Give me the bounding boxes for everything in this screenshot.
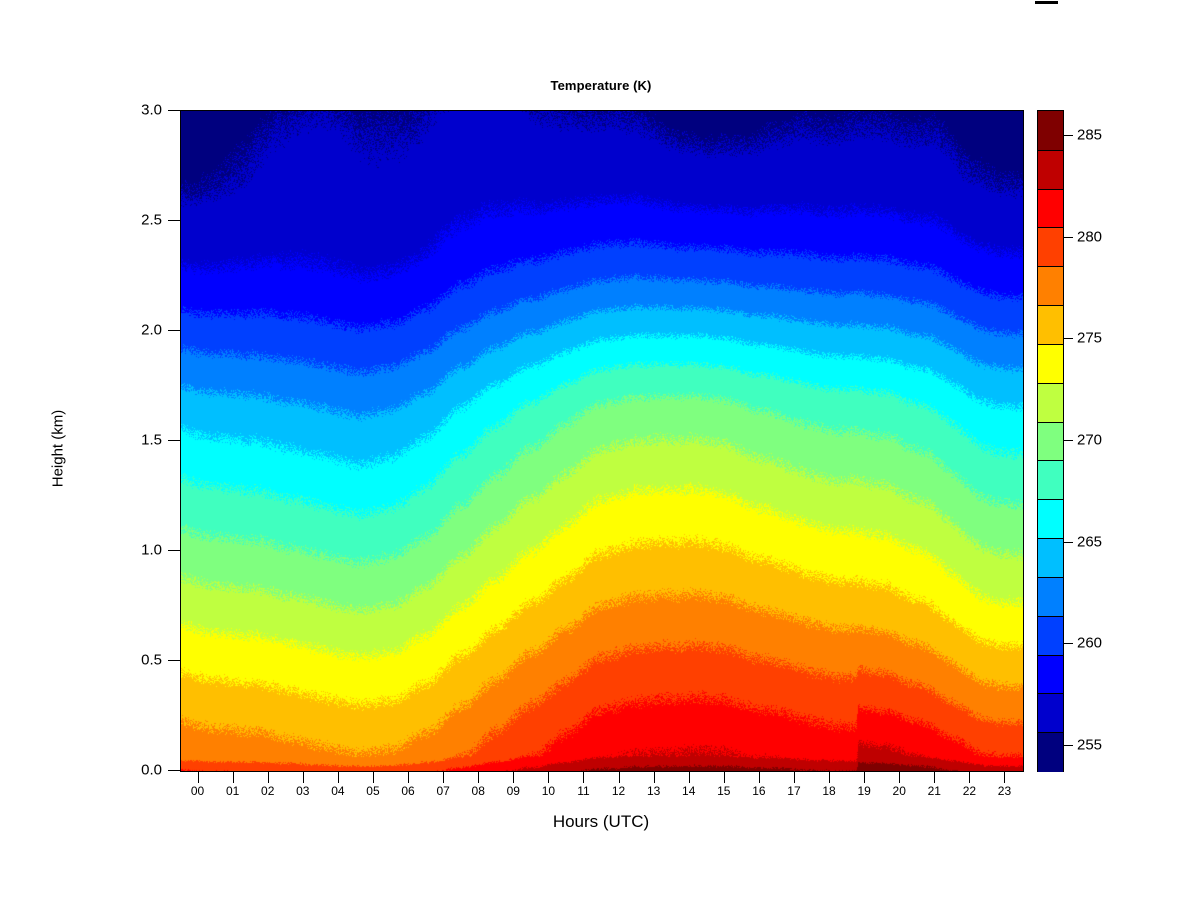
x-tick-mark <box>408 771 409 783</box>
x-axis-tick-marks <box>180 771 1022 783</box>
x-tick-label: 20 <box>893 784 906 798</box>
x-tick-label: 05 <box>366 784 379 798</box>
x-tick-label: 15 <box>717 784 730 798</box>
y-tick-label: 1.5 <box>141 432 162 449</box>
y-axis-tick-marks <box>168 110 180 770</box>
x-tick-label: 09 <box>507 784 520 798</box>
y-axis-tick-labels: 0.00.51.01.52.02.53.0 <box>100 110 162 770</box>
y-axis-title: Height (km) <box>50 369 67 529</box>
x-tick-label: 21 <box>928 784 941 798</box>
page-title: Temperature (K) <box>180 78 1022 93</box>
y-tick-mark <box>168 770 180 771</box>
y-tick-mark <box>168 110 180 111</box>
corner-rule-artifact <box>1035 1 1058 4</box>
x-tick-label: 11 <box>577 784 589 798</box>
x-tick-label: 06 <box>401 784 414 798</box>
colorbar-tick-marks <box>1064 110 1073 770</box>
x-tick-mark <box>373 771 374 783</box>
colorbar-tick-labels: 255260265270275280285 <box>1077 110 1137 770</box>
x-tick-label: 04 <box>331 784 344 798</box>
x-tick-mark <box>268 771 269 783</box>
colorbar-block <box>1038 460 1063 500</box>
y-tick-label: 2.0 <box>141 322 162 339</box>
colorbar-block <box>1038 693 1063 733</box>
y-tick-mark <box>168 550 180 551</box>
x-tick-label: 02 <box>261 784 274 798</box>
colorbar-tick-mark <box>1064 440 1073 441</box>
x-tick-label: 07 <box>436 784 449 798</box>
colorbar-tick-label: 270 <box>1077 432 1102 449</box>
colorbar-tick-label: 285 <box>1077 127 1102 144</box>
x-tick-mark <box>829 771 830 783</box>
x-tick-label: 23 <box>998 784 1011 798</box>
x-tick-mark <box>969 771 970 783</box>
colorbar-tick-label: 265 <box>1077 533 1102 550</box>
colorbar-tick-mark <box>1064 237 1073 238</box>
x-tick-label: 19 <box>857 784 870 798</box>
x-tick-mark <box>724 771 725 783</box>
x-tick-mark <box>934 771 935 783</box>
colorbar <box>1037 110 1064 772</box>
temperature-heatmap <box>181 111 1023 771</box>
x-tick-mark <box>1004 771 1005 783</box>
y-tick-mark <box>168 660 180 661</box>
x-tick-mark <box>759 771 760 783</box>
x-tick-mark <box>443 771 444 783</box>
x-tick-label: 18 <box>822 784 835 798</box>
x-tick-label: 01 <box>226 784 239 798</box>
colorbar-tick-mark <box>1064 338 1073 339</box>
x-tick-label: 14 <box>682 784 695 798</box>
figure-canvas: Temperature (K) 0.00.51.01.52.02.53.0 He… <box>0 0 1200 900</box>
colorbar-block <box>1038 732 1063 772</box>
colorbar-block <box>1038 538 1063 578</box>
heatmap-plot-area <box>180 110 1024 772</box>
y-tick-mark <box>168 440 180 441</box>
x-tick-label: 17 <box>787 784 800 798</box>
x-tick-mark <box>548 771 549 783</box>
x-tick-label: 12 <box>612 784 625 798</box>
y-tick-label: 0.5 <box>141 652 162 669</box>
colorbar-block <box>1038 655 1063 695</box>
x-tick-mark <box>689 771 690 783</box>
x-axis-title: Hours (UTC) <box>180 812 1022 832</box>
colorbar-tick-mark <box>1064 542 1073 543</box>
x-tick-label: 13 <box>647 784 660 798</box>
colorbar-block <box>1038 189 1063 229</box>
y-tick-mark <box>168 330 180 331</box>
x-tick-label: 10 <box>542 784 555 798</box>
colorbar-tick-label: 275 <box>1077 330 1102 347</box>
y-tick-label: 2.5 <box>141 212 162 229</box>
colorbar-block <box>1038 111 1063 151</box>
colorbar-block <box>1038 499 1063 539</box>
x-tick-label: 08 <box>472 784 485 798</box>
colorbar-block <box>1038 383 1063 423</box>
colorbar-block <box>1038 227 1063 267</box>
colorbar-block <box>1038 150 1063 190</box>
colorbar-tick-label: 260 <box>1077 635 1102 652</box>
x-tick-mark <box>233 771 234 783</box>
x-tick-mark <box>478 771 479 783</box>
colorbar-tick-label: 280 <box>1077 228 1102 245</box>
x-tick-mark <box>583 771 584 783</box>
colorbar-block <box>1038 344 1063 384</box>
x-tick-label: 16 <box>752 784 765 798</box>
colorbar-block <box>1038 266 1063 306</box>
x-tick-mark <box>864 771 865 783</box>
x-tick-label: 03 <box>296 784 309 798</box>
x-tick-mark <box>338 771 339 783</box>
x-tick-mark <box>794 771 795 783</box>
x-tick-mark <box>513 771 514 783</box>
x-tick-mark <box>654 771 655 783</box>
y-tick-label: 3.0 <box>141 102 162 119</box>
x-tick-label: 00 <box>191 784 204 798</box>
colorbar-tick-label: 255 <box>1077 736 1102 753</box>
y-tick-mark <box>168 220 180 221</box>
x-tick-mark <box>303 771 304 783</box>
colorbar-block <box>1038 422 1063 462</box>
x-axis-tick-labels: 0001020304050607080910111213141516171819… <box>180 784 1022 804</box>
y-tick-label: 1.0 <box>141 542 162 559</box>
x-tick-mark <box>899 771 900 783</box>
x-tick-mark <box>619 771 620 783</box>
x-tick-label: 22 <box>963 784 976 798</box>
colorbar-tick-mark <box>1064 745 1073 746</box>
colorbar-block <box>1038 616 1063 656</box>
colorbar-block <box>1038 577 1063 617</box>
x-tick-mark <box>198 771 199 783</box>
y-tick-label: 0.0 <box>141 762 162 779</box>
colorbar-tick-mark <box>1064 135 1073 136</box>
colorbar-tick-mark <box>1064 643 1073 644</box>
colorbar-block <box>1038 305 1063 345</box>
